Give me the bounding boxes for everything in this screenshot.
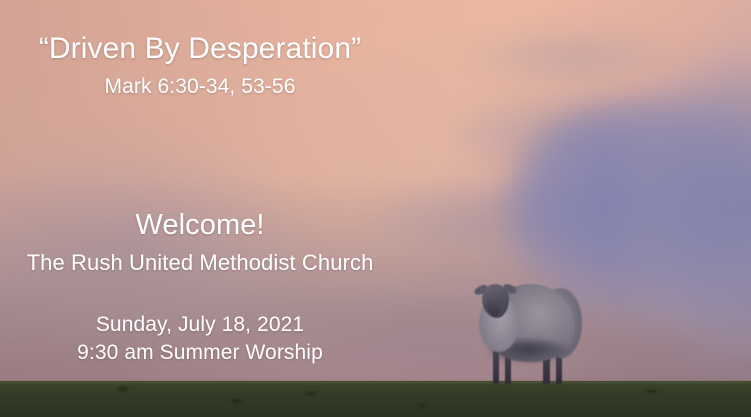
worship-title-slide: “Driven By Desperation” Mark 6:30-34, 53…	[0, 0, 751, 417]
service-date: Sunday, July 18, 2021	[0, 313, 400, 337]
service-time-label: 9:30 am Summer Worship	[0, 341, 400, 365]
church-name: The Rush United Methodist Church	[0, 250, 400, 276]
slide-text-layer: “Driven By Desperation” Mark 6:30-34, 53…	[0, 0, 751, 417]
welcome-heading: Welcome!	[0, 209, 400, 242]
scripture-reference: Mark 6:30-34, 53-56	[0, 75, 400, 99]
sermon-title: “Driven By Desperation”	[0, 32, 400, 66]
